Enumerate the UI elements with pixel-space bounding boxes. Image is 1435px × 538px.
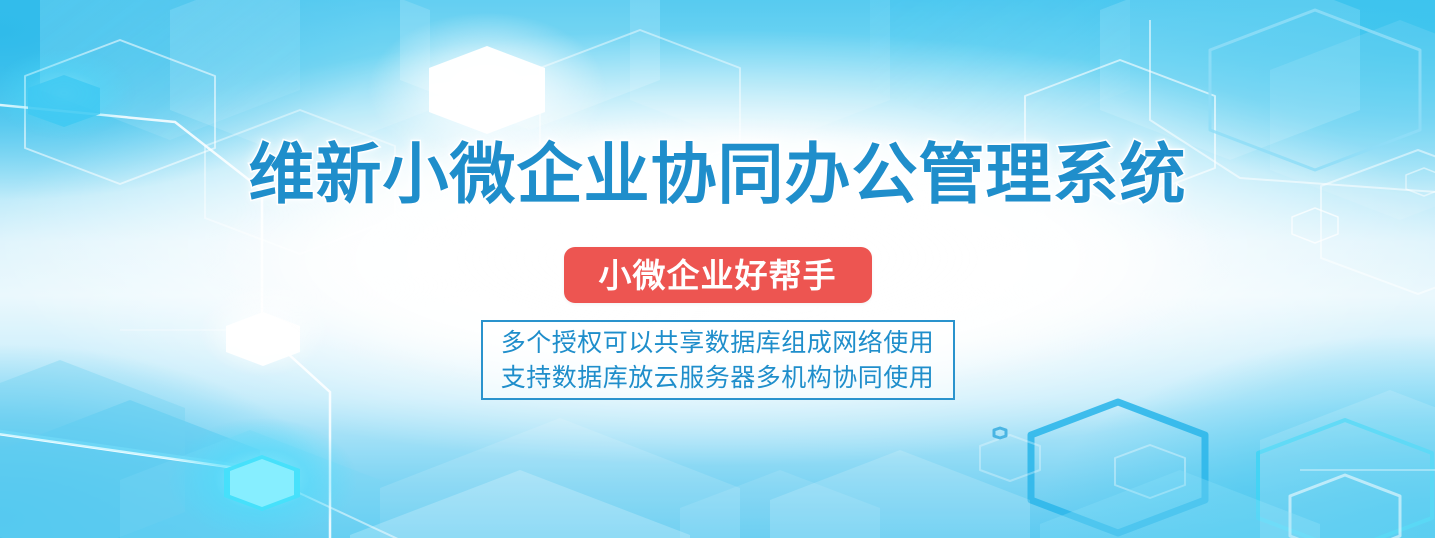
promo-banner: 维新小微企业协同办公管理系统 小微企业好帮手 多个授权可以共享数据库组成网络使用… <box>0 0 1435 538</box>
banner-content: 维新小微企业协同办公管理系统 小微企业好帮手 多个授权可以共享数据库组成网络使用… <box>0 0 1435 538</box>
page-title: 维新小微企业协同办公管理系统 <box>0 136 1435 214</box>
feature-info-box: 多个授权可以共享数据库组成网络使用 支持数据库放云服务器多机构协同使用 <box>481 320 955 400</box>
feature-info-line-1: 多个授权可以共享数据库组成网络使用 <box>501 325 935 360</box>
tagline-badge-label: 小微企业好帮手 <box>599 259 837 292</box>
tagline-badge: 小微企业好帮手 <box>564 247 872 303</box>
feature-info-line-2: 支持数据库放云服务器多机构协同使用 <box>501 360 935 395</box>
